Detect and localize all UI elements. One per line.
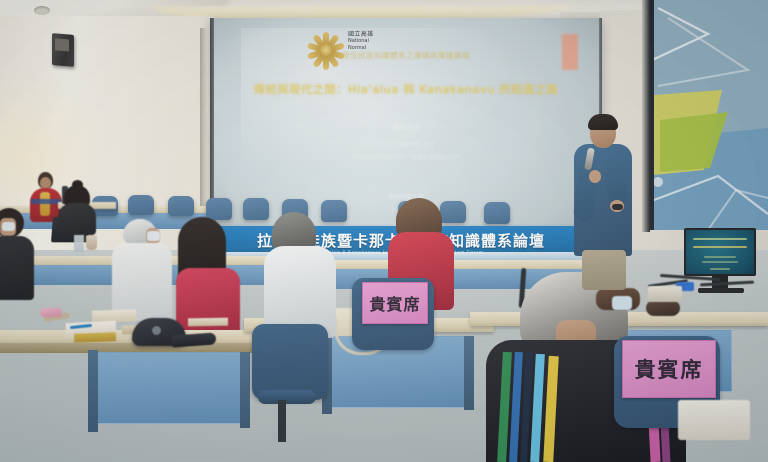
chair-post — [278, 400, 286, 442]
speaker-hair — [588, 114, 618, 130]
vip-seat-sign: 貴賓席 — [622, 340, 716, 398]
desk-leg — [464, 336, 474, 410]
monitor-base — [698, 288, 744, 293]
university-logo-text: 國立高雄 National Normal — [348, 31, 380, 52]
chair — [252, 324, 328, 400]
tablecloth — [678, 400, 750, 440]
nknu-emblem-icon — [306, 30, 346, 70]
face-mask — [612, 296, 632, 310]
chair — [440, 201, 466, 223]
vip-seat-sign: 貴賓席 — [362, 282, 428, 324]
attendee-hair-bun — [72, 180, 83, 189]
logo-line-2: Normal — [348, 45, 380, 52]
chair — [128, 195, 154, 215]
speaker-trousers — [582, 250, 626, 290]
lecture-hall-photo: 原住民族知識體系之建構與實踐論壇 傳統與現代之間：Hla'alua 與 Kana… — [0, 0, 768, 462]
traditional-ornament — [40, 192, 50, 216]
face-mask — [147, 231, 160, 241]
presenter-remote-icon — [612, 204, 623, 210]
geometric-wall-art — [648, 0, 768, 230]
pouch — [40, 308, 62, 317]
desk-front-panel — [96, 352, 248, 424]
speaker-hand — [589, 170, 601, 183]
wall-speaker-icon — [52, 33, 74, 67]
attendee-top — [0, 236, 34, 300]
face-mask — [2, 222, 15, 231]
papers — [188, 318, 228, 327]
attendee-top — [58, 203, 96, 235]
desk-leg — [88, 350, 98, 432]
chair — [168, 196, 194, 216]
university-logo: 國立高雄 National Normal — [306, 26, 380, 82]
notebook — [74, 332, 116, 342]
art-panel-frame — [642, 0, 650, 232]
vip-seat-label: 貴賓席 — [369, 291, 420, 315]
desk-leg — [240, 352, 250, 428]
coffee-cup — [86, 235, 97, 250]
ceiling-vent-icon — [34, 6, 50, 15]
power-adapter — [648, 286, 682, 302]
chair-seat — [258, 390, 316, 404]
logo-line-1: National — [348, 38, 380, 45]
traditional-sash — [31, 199, 61, 204]
chair — [206, 198, 232, 220]
vip-seat-label: 貴賓席 — [635, 354, 704, 384]
chair — [484, 202, 510, 224]
handbag — [646, 300, 680, 316]
chair — [321, 200, 347, 222]
cap-logo-icon — [152, 326, 161, 335]
chair — [243, 198, 269, 220]
logo-chinese-name: 國立高雄 — [348, 31, 380, 38]
monitor-screen — [686, 230, 754, 274]
confidence-monitor — [684, 228, 756, 276]
